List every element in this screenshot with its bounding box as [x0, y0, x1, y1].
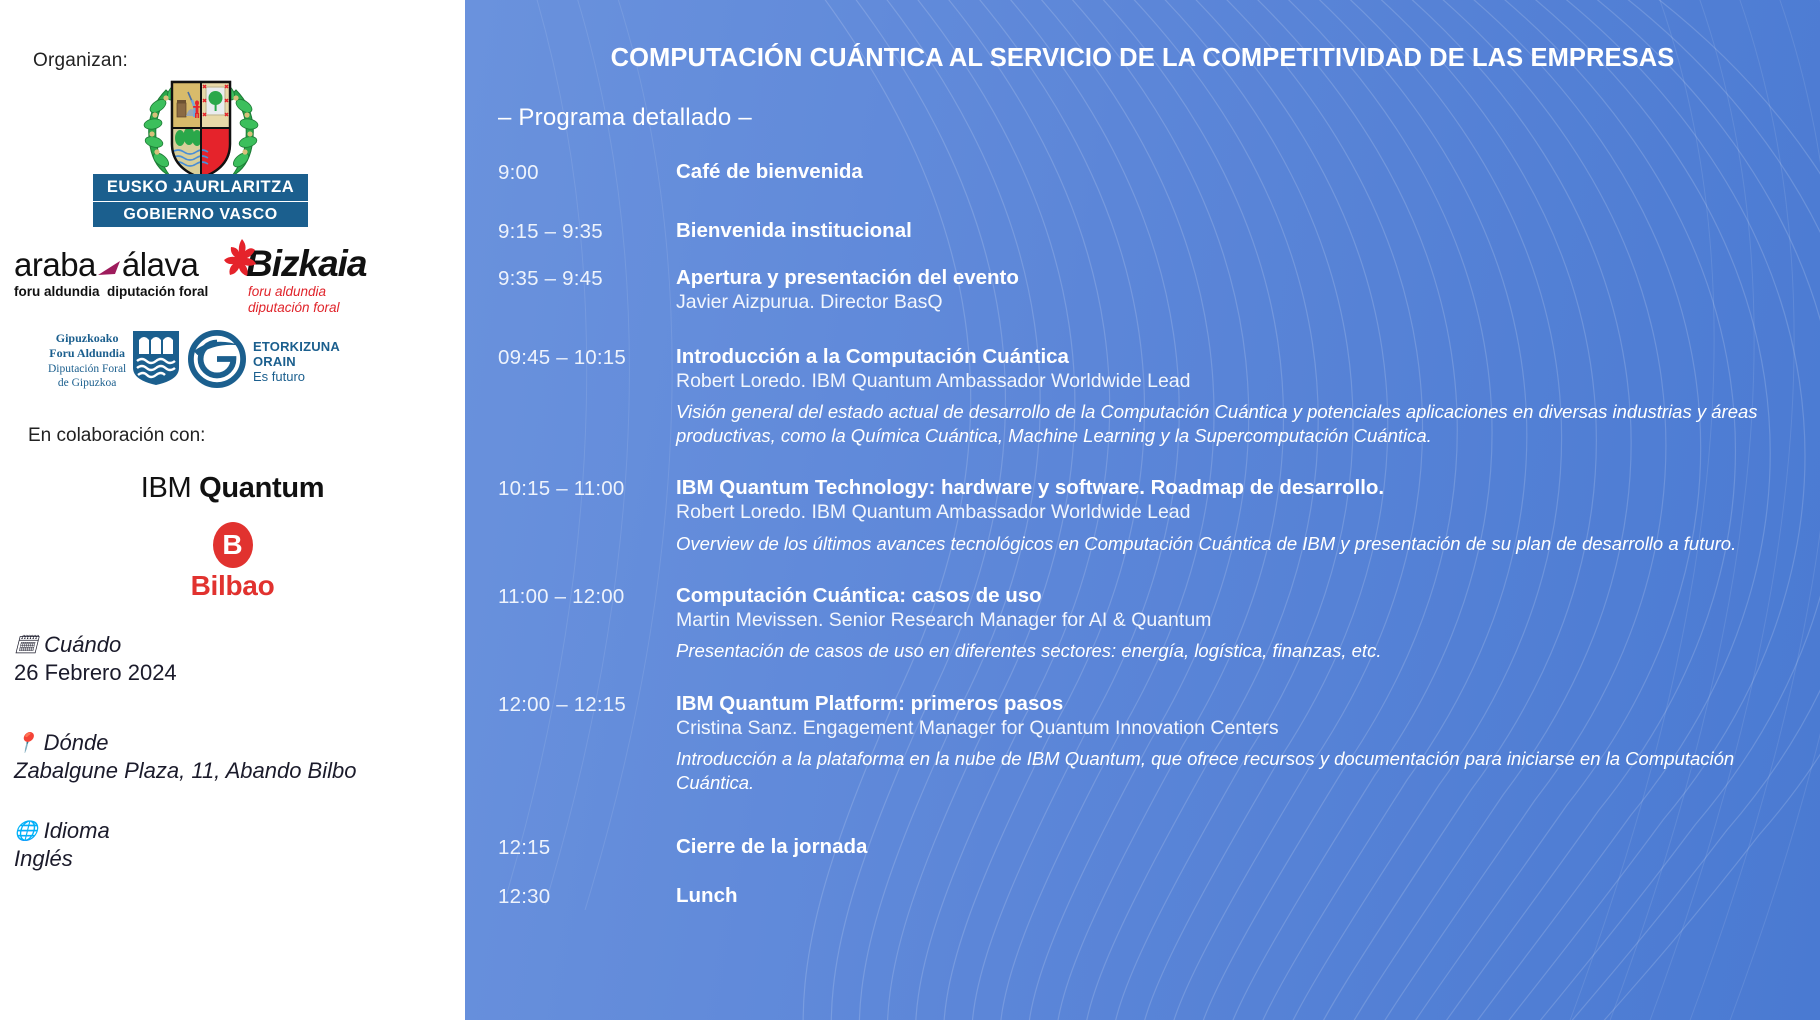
etorkizuna-line1: ETORKIZUNA: [253, 339, 340, 354]
agenda-row: 12:30 Lunch: [498, 884, 1800, 909]
agenda-title: Bienvenida institucional: [676, 219, 1800, 243]
logo-eusko-jaurlaritza: EUSKO JAURLARITZA GOBIERNO VASCO: [93, 72, 308, 227]
agenda-time: 12:00 – 12:15: [498, 692, 676, 796]
info-language-value: Inglés: [14, 846, 110, 872]
agenda-description: Visión general del estado actual de desa…: [676, 400, 1800, 448]
collaboration-label: En colaboración con:: [28, 425, 205, 447]
agenda-row: 9:00 Café de bienvenida: [498, 160, 1800, 185]
agenda-row: 12:15 Cierre de la jornada: [498, 835, 1800, 860]
gipuzkoa-line2: Foru Aldundia: [49, 346, 125, 360]
info-when-heading: Cuándo: [44, 632, 121, 658]
bilbao-wordmark: Bilbao: [0, 570, 465, 602]
info-language: 🌐 Idioma Inglés: [14, 818, 110, 872]
agenda-row: 9:35 – 9:45 Apertura y presentación del …: [498, 266, 1800, 315]
araba-main-right: álava: [122, 246, 198, 283]
logo-gipuzkoa: Gipuzkoako Foru Aldundia Diputación Fora…: [48, 330, 180, 391]
agenda-title: Introducción a la Computación Cuántica: [676, 345, 1800, 369]
info-language-heading: Idioma: [44, 818, 110, 844]
eusko-line2: GOBIERNO VASCO: [93, 202, 308, 227]
agenda-speaker: Martin Mevissen. Senior Research Manager…: [676, 609, 1800, 632]
agenda-title: IBM Quantum Technology: hardware y softw…: [676, 476, 1800, 500]
agenda-speaker: Javier Aizpurua. Director BasQ: [676, 291, 1800, 314]
quantum-wordmark: Quantum: [199, 472, 324, 504]
gipuzkoa-line1: Gipuzkoako: [56, 331, 119, 345]
logo-bilbao: B Bilbao: [0, 522, 465, 602]
bizkaia-sub1: foru aldundia: [248, 284, 382, 300]
basque-coat-of-arms-icon: [136, 72, 266, 187]
agenda-time: 09:45 – 10:15: [498, 345, 676, 449]
info-where-value: Zabalgune Plaza, 11, Abando Bilbo: [14, 758, 356, 784]
agenda-title: Café de bienvenida: [676, 160, 1800, 184]
agenda-list: 9:00 Café de bienvenida 9:15 – 9:35 Bien…: [498, 160, 1800, 909]
agenda-time: 12:30: [498, 884, 676, 909]
agenda-speaker: Robert Loredo. IBM Quantum Ambassador Wo…: [676, 370, 1800, 393]
agenda-speaker: Robert Loredo. IBM Quantum Ambassador Wo…: [676, 501, 1800, 524]
info-where-heading: Dónde: [44, 730, 109, 756]
program-subtitle: – Programa detallado –: [498, 104, 752, 132]
logo-ibm-quantum: IBM Quantum: [0, 472, 465, 505]
language-emoji-icon: 🌐: [14, 822, 38, 841]
agenda-row: 09:45 – 10:15 Introducción a la Computac…: [498, 345, 1800, 449]
araba-sub-left: foru aldundia: [14, 284, 100, 299]
agenda-time: 9:15 – 9:35: [498, 219, 676, 244]
ibm-wordmark: IBM: [141, 472, 192, 504]
logo-etorkizuna-orain: ETORKIZUNA ORAIN Es futuro: [188, 330, 340, 393]
info-when-value: 26 Febrero 2024: [14, 660, 177, 686]
agenda-description: Presentación de casos de uso en diferent…: [676, 639, 1800, 663]
left-sidebar: Organizan:: [0, 0, 465, 1020]
gipuzkoa-line3: Diputación Foral: [48, 362, 126, 376]
etorkizuna-line3: Es futuro: [253, 369, 340, 384]
agenda-time: 10:15 – 11:00: [498, 476, 676, 556]
calendar-emoji-icon: 🗓: [14, 636, 38, 655]
agenda-time: 9:35 – 9:45: [498, 266, 676, 315]
info-where: 📍 Dónde Zabalgune Plaza, 11, Abando Bilb…: [14, 730, 356, 784]
araba-main-left: araba: [14, 246, 96, 283]
agenda-time: 11:00 – 12:00: [498, 584, 676, 664]
araba-sub-right: diputación foral: [107, 284, 208, 299]
organizers-label: Organizan:: [33, 50, 128, 72]
gipuzkoa-line4: de Gipuzkoa: [48, 376, 126, 390]
bizkaia-sub2: diputación foral: [248, 300, 382, 316]
location-pin-emoji-icon: 📍: [14, 734, 38, 753]
info-when: 🗓 Cuándo 26 Febrero 2024: [14, 632, 177, 686]
poster-root: Organizan:: [0, 0, 1820, 1020]
agenda-description: Introducción a la plataforma en la nube …: [676, 747, 1800, 795]
agenda-time: 9:00: [498, 160, 676, 185]
agenda-row: 11:00 – 12:00 Computación Cuántica: caso…: [498, 584, 1800, 664]
agenda-title: Apertura y presentación del evento: [676, 266, 1800, 290]
oak-leaf-icon: [222, 237, 262, 294]
logo-bizkaia: Bizkaia foru aldundia diputación foral: [222, 245, 382, 315]
agenda-description: Overview de los últimos avances tecnológ…: [676, 532, 1800, 556]
page-title: COMPUTACIÓN CUÁNTICA AL SERVICIO DE LA C…: [465, 44, 1820, 73]
agenda-title: Computación Cuántica: casos de uso: [676, 584, 1800, 608]
etorkizuna-g-icon: [188, 330, 246, 393]
agenda-title: Cierre de la jornada: [676, 835, 1800, 859]
eusko-line1: EUSKO JAURLARITZA: [93, 174, 308, 201]
araba-tick-icon: [96, 250, 122, 268]
etorkizuna-line2: ORAIN: [253, 354, 340, 369]
program-panel: COMPUTACIÓN CUÁNTICA AL SERVICIO DE LA C…: [465, 0, 1820, 1020]
agenda-title: IBM Quantum Platform: primeros pasos: [676, 692, 1800, 716]
agenda-row: 12:00 – 12:15 IBM Quantum Platform: prim…: [498, 692, 1800, 796]
agenda-row: 10:15 – 11:00 IBM Quantum Technology: ha…: [498, 476, 1800, 556]
agenda-speaker: Cristina Sanz. Engagement Manager for Qu…: [676, 717, 1800, 740]
agenda-time: 12:15: [498, 835, 676, 860]
agenda-row: 9:15 – 9:35 Bienvenida institucional: [498, 219, 1800, 244]
agenda-title: Lunch: [676, 884, 1800, 908]
bilbao-b-icon: B: [213, 522, 253, 568]
logo-araba-alava: araba álava foru aldundia diputación for…: [14, 248, 189, 299]
gipuzkoa-crest-icon: [132, 330, 180, 391]
